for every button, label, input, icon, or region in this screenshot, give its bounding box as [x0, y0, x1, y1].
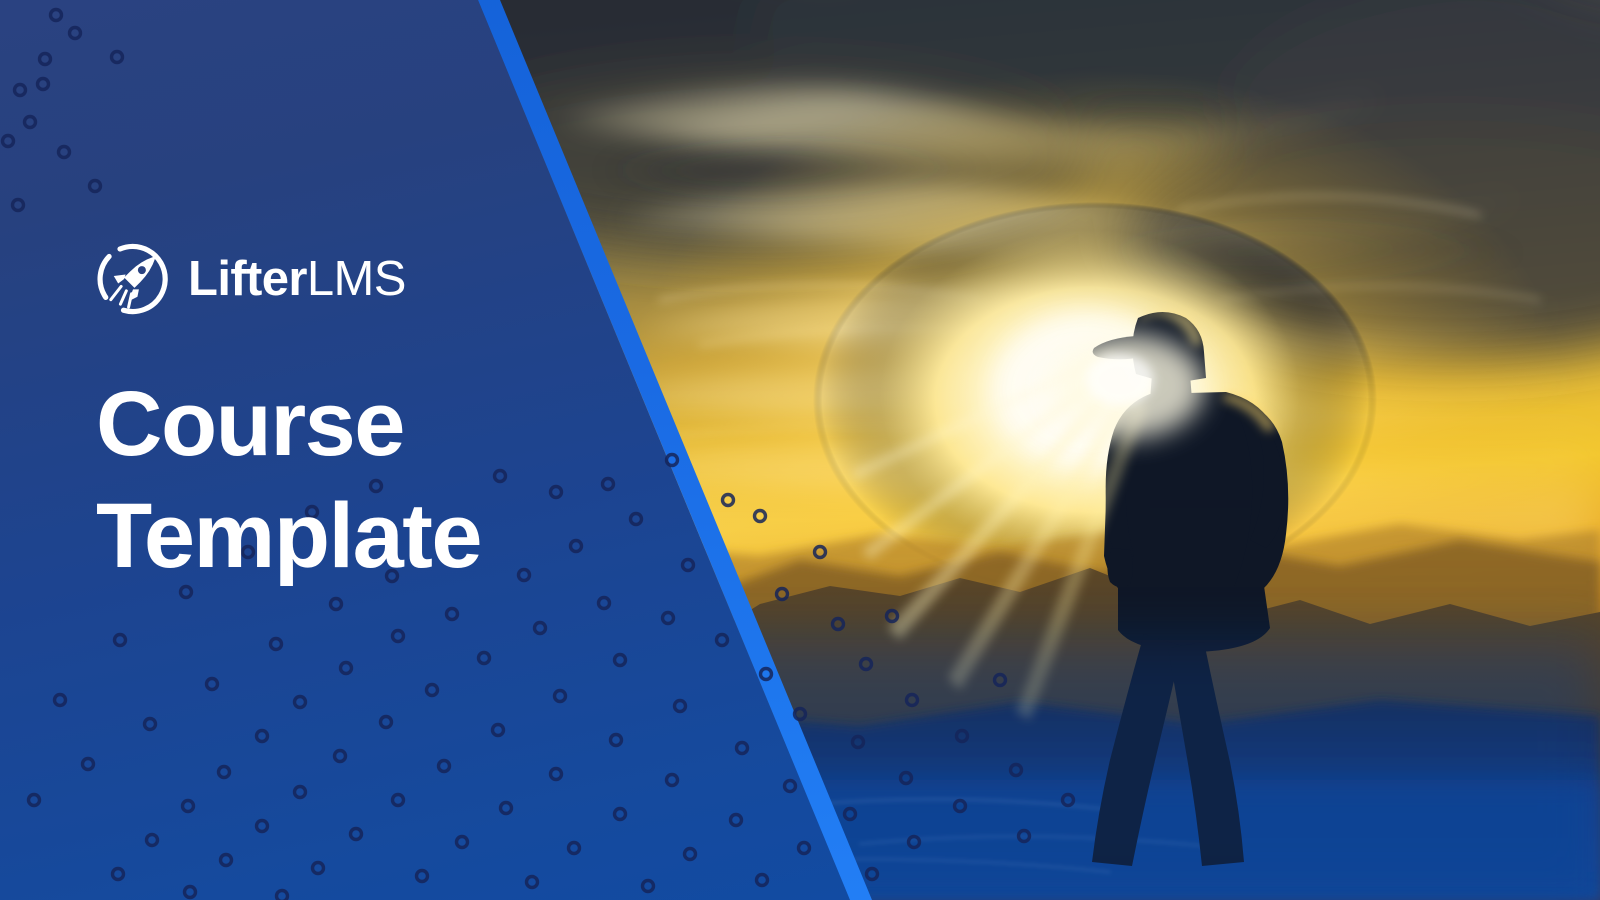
lifterlms-wordmark: LifterLMS: [188, 255, 406, 304]
page-title: Course Template: [96, 368, 616, 592]
banner-content: LifterLMS Course Template: [96, 236, 616, 592]
course-template-banner: LifterLMS Course Template: [0, 0, 1600, 900]
title-line-2: Template: [96, 480, 616, 592]
title-line-1: Course: [96, 368, 616, 480]
lifterlms-logo[interactable]: LifterLMS: [96, 236, 616, 322]
logo-text-lms: LMS: [307, 252, 406, 306]
rocket-in-circle-icon: [96, 242, 170, 316]
logo-text-lifter: Lifter: [188, 252, 307, 306]
